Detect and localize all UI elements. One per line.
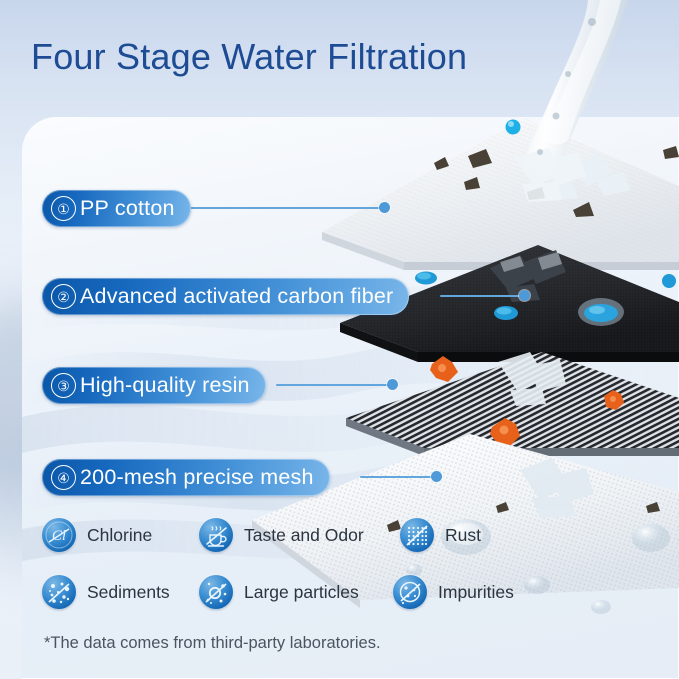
- chlorine-icon: Cl: [42, 518, 76, 552]
- stage-number-1: ①: [51, 196, 76, 221]
- taste-odor-icon: [199, 518, 233, 552]
- impurities-icon: [393, 575, 427, 609]
- stage-label-3[interactable]: ③ High-quality resin: [42, 367, 266, 404]
- resin-mesh-sheet: [346, 352, 679, 456]
- rust-icon: [400, 518, 434, 552]
- sediments-icon: [42, 575, 76, 609]
- feature-rust[interactable]: Rust: [400, 518, 481, 552]
- pp-cotton-sheet: [322, 118, 679, 270]
- stage-number-4: ④: [51, 465, 76, 490]
- connector-dot-2: [519, 290, 530, 301]
- stage-number-2: ②: [51, 284, 76, 309]
- stage-label-2[interactable]: ② Advanced activated carbon fiber: [42, 278, 409, 315]
- connector-dot-3: [387, 379, 398, 390]
- feature-label-large-particles: Large particles: [244, 582, 359, 603]
- feature-label-impurities: Impurities: [438, 582, 514, 603]
- connector-dot-4: [431, 471, 442, 482]
- stage-number-3: ③: [51, 373, 76, 398]
- connector-dot-1: [379, 202, 390, 213]
- feature-chlorine[interactable]: Cl Chlorine: [42, 518, 152, 552]
- large-particles-icon: [199, 575, 233, 609]
- stage-text-4: 200-mesh precise mesh: [80, 465, 314, 490]
- feature-taste-odor[interactable]: Taste and Odor: [199, 518, 364, 552]
- stage-label-1[interactable]: ① PP cotton: [42, 190, 191, 227]
- feature-label-chlorine: Chlorine: [87, 525, 152, 546]
- stage-label-4[interactable]: ④ 200-mesh precise mesh: [42, 459, 330, 496]
- feature-impurities[interactable]: Impurities: [393, 575, 514, 609]
- feature-large-particles[interactable]: Large particles: [199, 575, 359, 609]
- stage-text-1: PP cotton: [80, 196, 175, 221]
- connector-line-1: [186, 207, 386, 209]
- stage-text-3: High-quality resin: [80, 373, 250, 398]
- connector-line-4: [360, 476, 438, 478]
- feature-label-rust: Rust: [445, 525, 481, 546]
- infographic-canvas: Four Stage Water Filtration: [0, 0, 679, 679]
- feature-label-taste-odor: Taste and Odor: [244, 525, 364, 546]
- footnote: *The data comes from third-party laborat…: [44, 634, 381, 653]
- stage-text-2: Advanced activated carbon fiber: [80, 284, 393, 309]
- feature-sediments[interactable]: Sediments: [42, 575, 170, 609]
- connector-line-3: [276, 384, 394, 386]
- connector-line-2: [440, 295, 526, 297]
- feature-label-sediments: Sediments: [87, 582, 170, 603]
